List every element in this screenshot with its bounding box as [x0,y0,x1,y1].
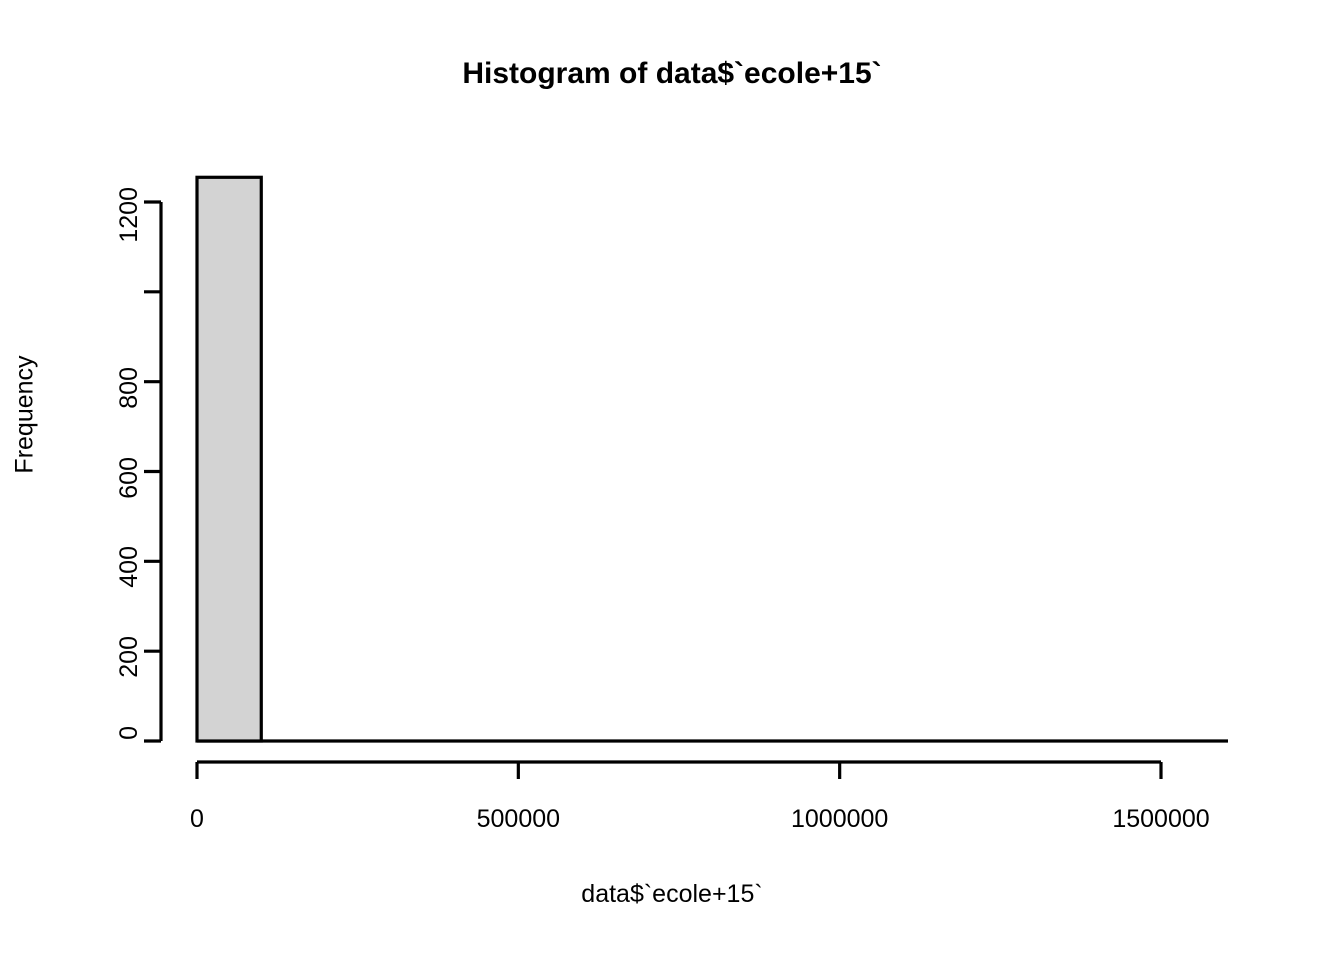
r-plot-device: Histogram of data$`ecole+15` Frequency d… [0,0,1344,960]
y-tick-label-1200: 1200 [115,187,144,307]
x-tick-label-1000000: 1000000 [730,805,950,834]
x-tick-label-500000: 500000 [408,805,628,834]
x-tick-label-0: 0 [87,805,307,834]
axes-group [144,202,1228,779]
x-tick-label-1500000: 1500000 [1051,805,1271,834]
bars-group [197,177,261,741]
y-tick-label-800: 800 [115,367,144,487]
histogram-bar [197,177,261,741]
